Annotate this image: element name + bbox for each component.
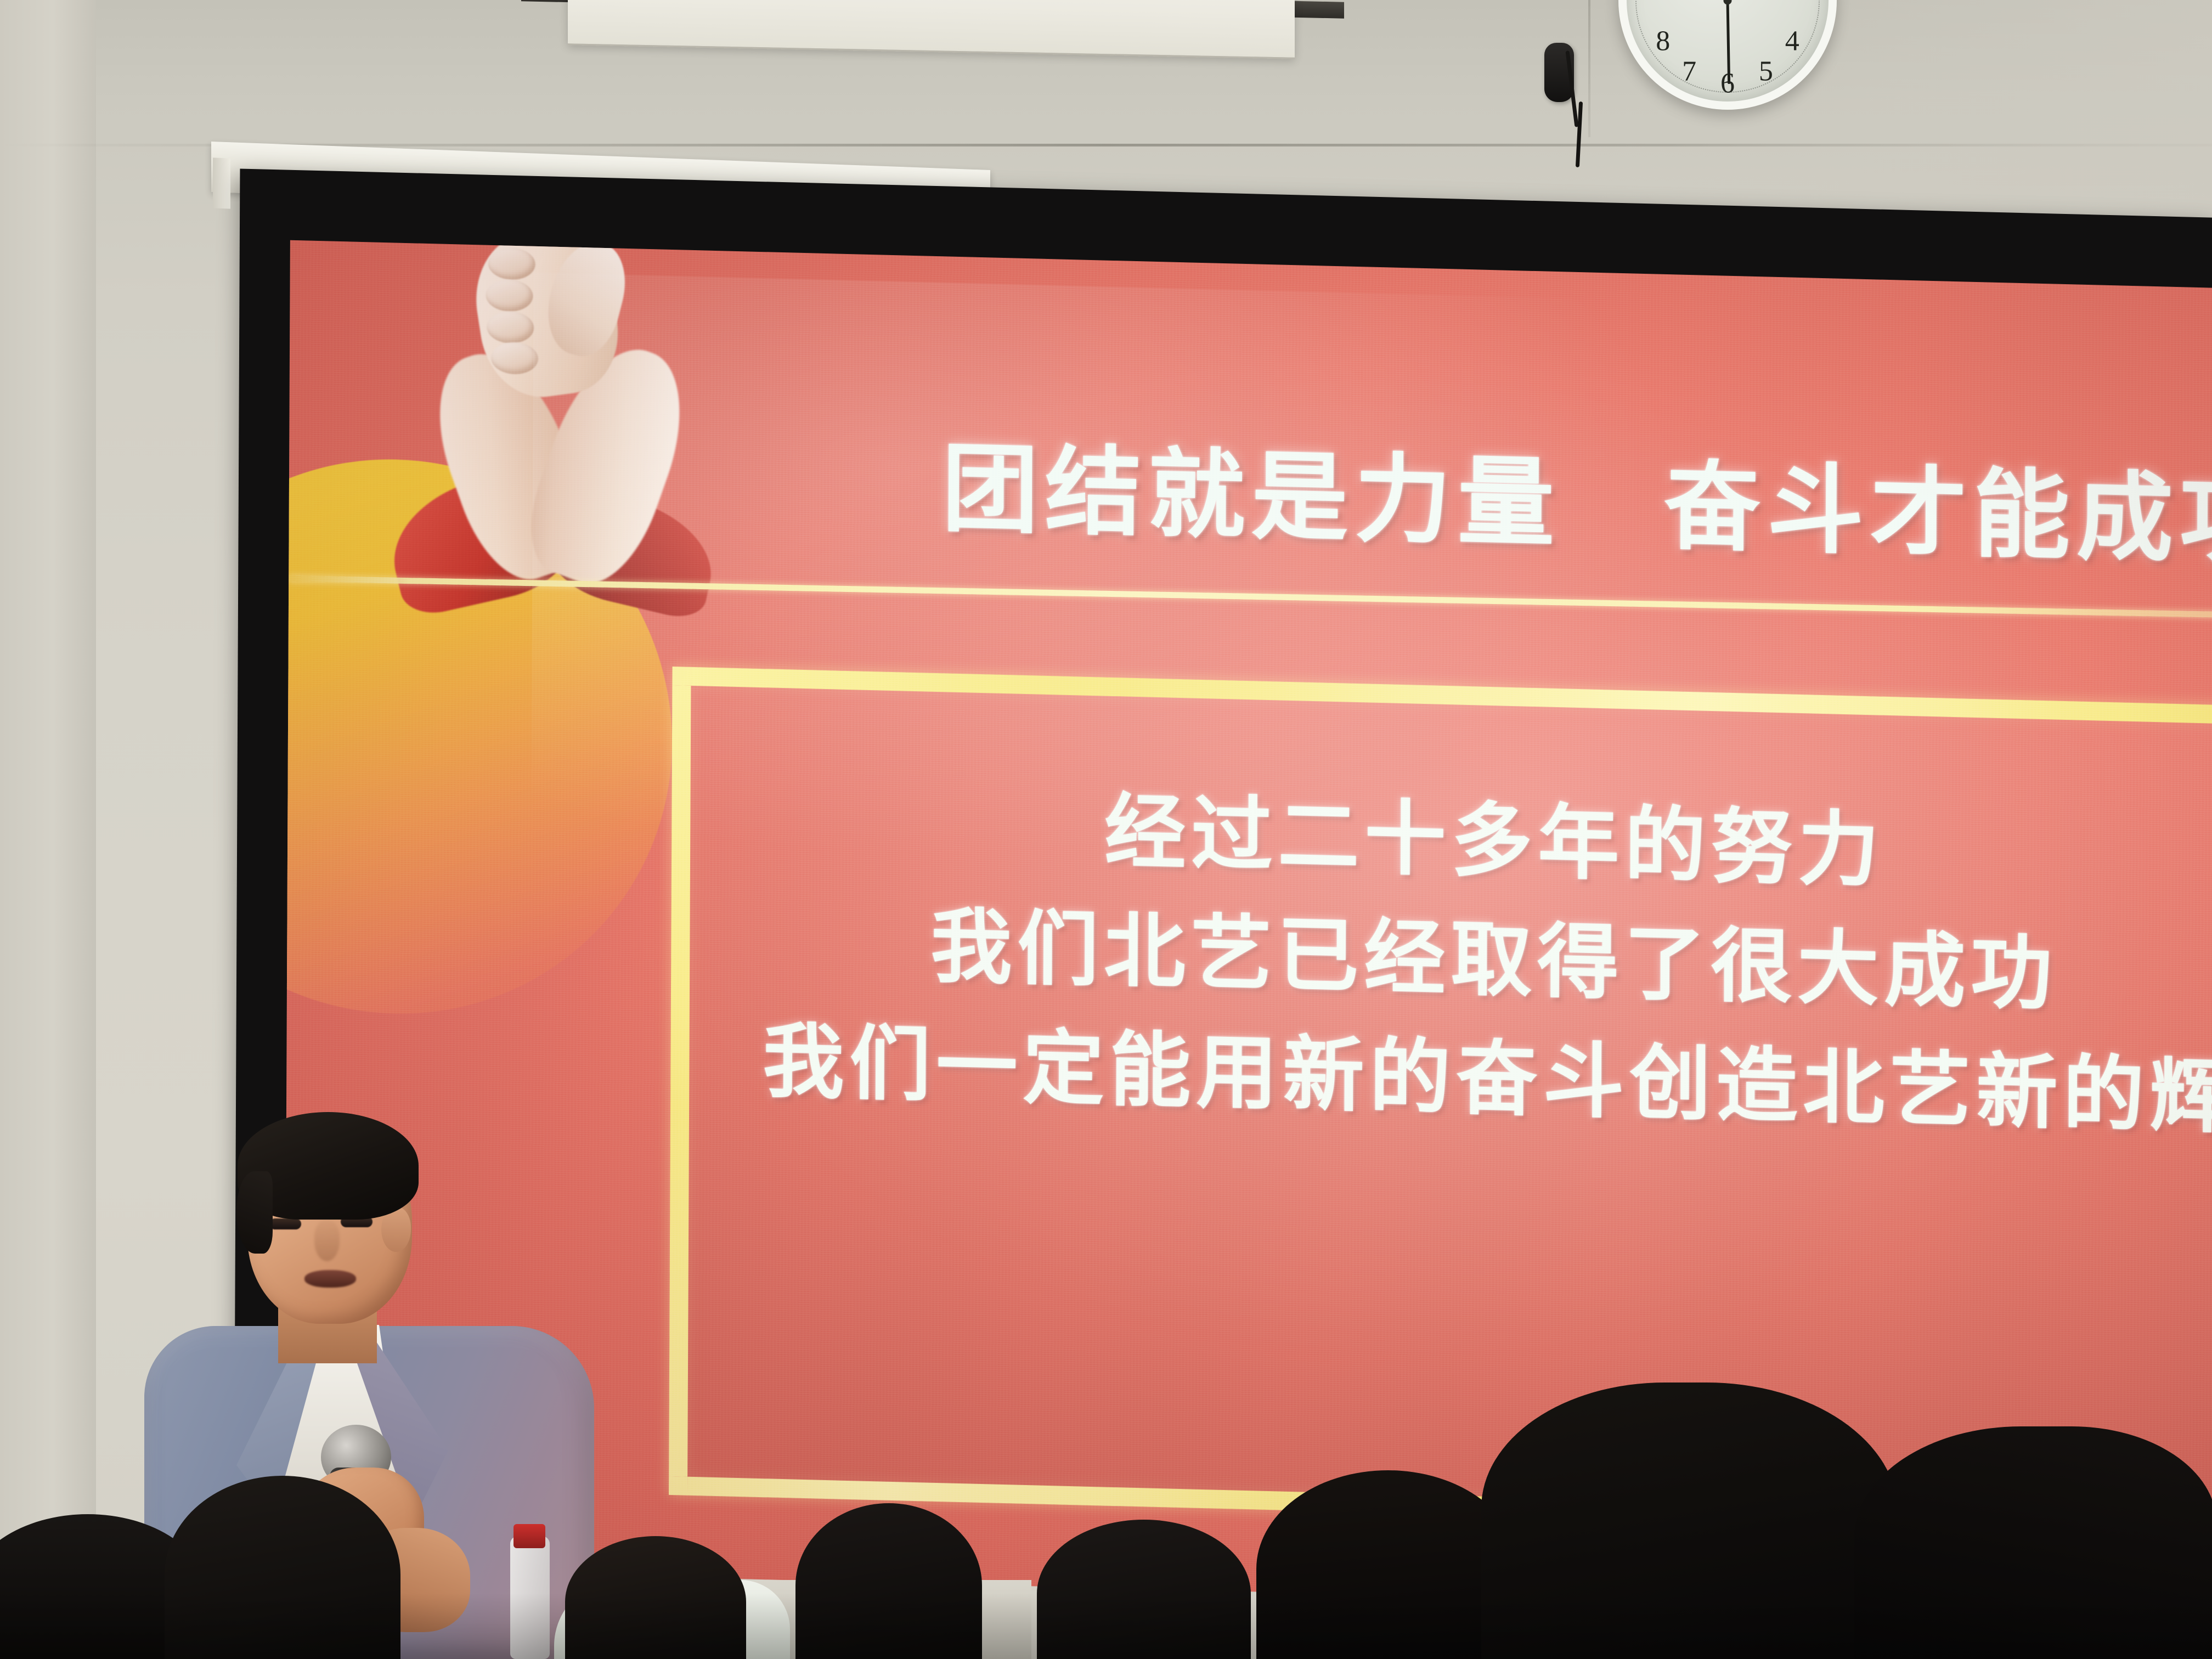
- projector-screen-roller-end-cap: [213, 157, 230, 208]
- water-bottle: [510, 1536, 550, 1659]
- clock-numeral-5: 5: [1759, 55, 1773, 87]
- presenter-nose: [314, 1221, 340, 1261]
- presenter-hair-side: [236, 1171, 273, 1254]
- audience-head-center-right: [1037, 1520, 1251, 1659]
- clock-numeral-7: 7: [1682, 55, 1696, 87]
- screenshot-root: 4 5 6 7 8: [0, 0, 2212, 1659]
- clock-numeral-4: 4: [1785, 25, 1799, 57]
- audience-head-center-left: [565, 1536, 746, 1659]
- audience-head-right-edge: [1854, 1426, 2212, 1659]
- clock-numeral-8: 8: [1656, 25, 1670, 57]
- audience-head-right-large: [1481, 1383, 1898, 1659]
- wall-left-panel: [0, 0, 96, 1659]
- wall-vertical-groove: [1588, 0, 1590, 137]
- presenter-eye-left: [269, 1218, 301, 1229]
- presenter-mouth: [304, 1270, 356, 1288]
- water-bottle-cap: [513, 1524, 545, 1548]
- audience-head-right: [1256, 1470, 1520, 1659]
- audience-head-center: [795, 1503, 982, 1659]
